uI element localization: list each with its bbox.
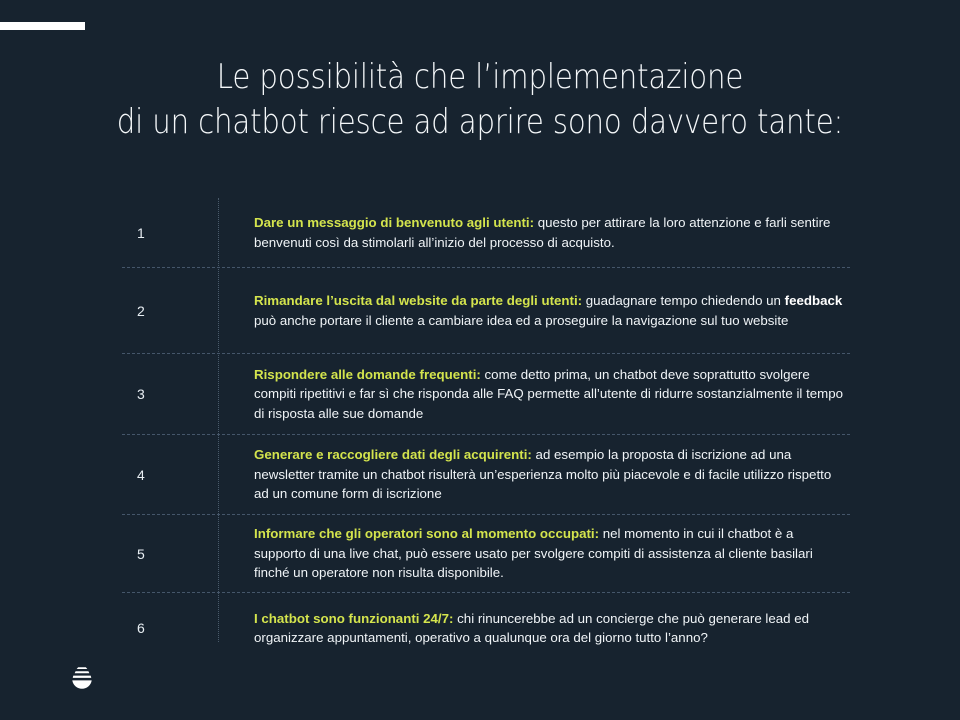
- list-item-body: guadagnare tempo chiedendo un: [582, 293, 785, 308]
- page-title: Le possibilità che l’implementazione di …: [0, 55, 960, 145]
- list-item: 4 Generare e raccogliere dati degli acqu…: [122, 435, 850, 515]
- list-item: 5 Informare che gli operatori sono al mo…: [122, 515, 850, 593]
- list-item-number: 3: [122, 386, 218, 402]
- stacked-sphere-icon: [68, 664, 96, 694]
- list-item-text: Generare e raccogliere dati degli acquir…: [218, 445, 850, 504]
- top-accent-bar: [0, 22, 85, 30]
- list-item-number: 5: [122, 546, 218, 562]
- list-item-emphasis: feedback: [785, 293, 843, 308]
- list-item: 1 Dare un messaggio di benvenuto agli ut…: [122, 198, 850, 268]
- list-item: 6 I chatbot sono funzionanti 24/7: chi r…: [122, 593, 850, 663]
- page-title-line-2: di un chatbot riesce ad aprire sono davv…: [102, 100, 859, 145]
- list-item-lead: Generare e raccogliere dati degli acquir…: [254, 447, 532, 462]
- list-item-number: 6: [122, 620, 218, 636]
- list-item-lead: Rispondere alle domande frequenti:: [254, 367, 481, 382]
- list-item-lead: Informare che gli operatori sono al mome…: [254, 526, 599, 541]
- list-item-text: I chatbot sono funzionanti 24/7: chi rin…: [218, 609, 850, 648]
- stacked-sphere-logo: [68, 664, 96, 694]
- page-title-line-1: Le possibilità che l’implementazione: [102, 55, 859, 100]
- list-item-lead: I chatbot sono funzionanti 24/7:: [254, 611, 453, 626]
- list-item-lead: Dare un messaggio di benvenuto agli uten…: [254, 215, 534, 230]
- list-item: 2 Rimandare l’uscita dal website da part…: [122, 268, 850, 354]
- list-item-number: 1: [122, 225, 218, 241]
- slide-root: Le possibilità che l’implementazione di …: [0, 0, 960, 720]
- list-item-number: 4: [122, 467, 218, 483]
- list-item-text: Rispondere alle domande frequenti: come …: [218, 365, 850, 424]
- list-item-text: Rimandare l’uscita dal website da parte …: [218, 291, 850, 330]
- list-item-text: Dare un messaggio di benvenuto agli uten…: [218, 213, 850, 252]
- list-item-number: 2: [122, 303, 218, 319]
- list-item: 3 Rispondere alle domande frequenti: com…: [122, 354, 850, 435]
- list-item-lead: Rimandare l’uscita dal website da parte …: [254, 293, 582, 308]
- list-item-text: Informare che gli operatori sono al mome…: [218, 524, 850, 583]
- numbered-list: 1 Dare un messaggio di benvenuto agli ut…: [122, 198, 850, 642]
- list-item-body-cont: può anche portare il cliente a cambiare …: [254, 313, 788, 328]
